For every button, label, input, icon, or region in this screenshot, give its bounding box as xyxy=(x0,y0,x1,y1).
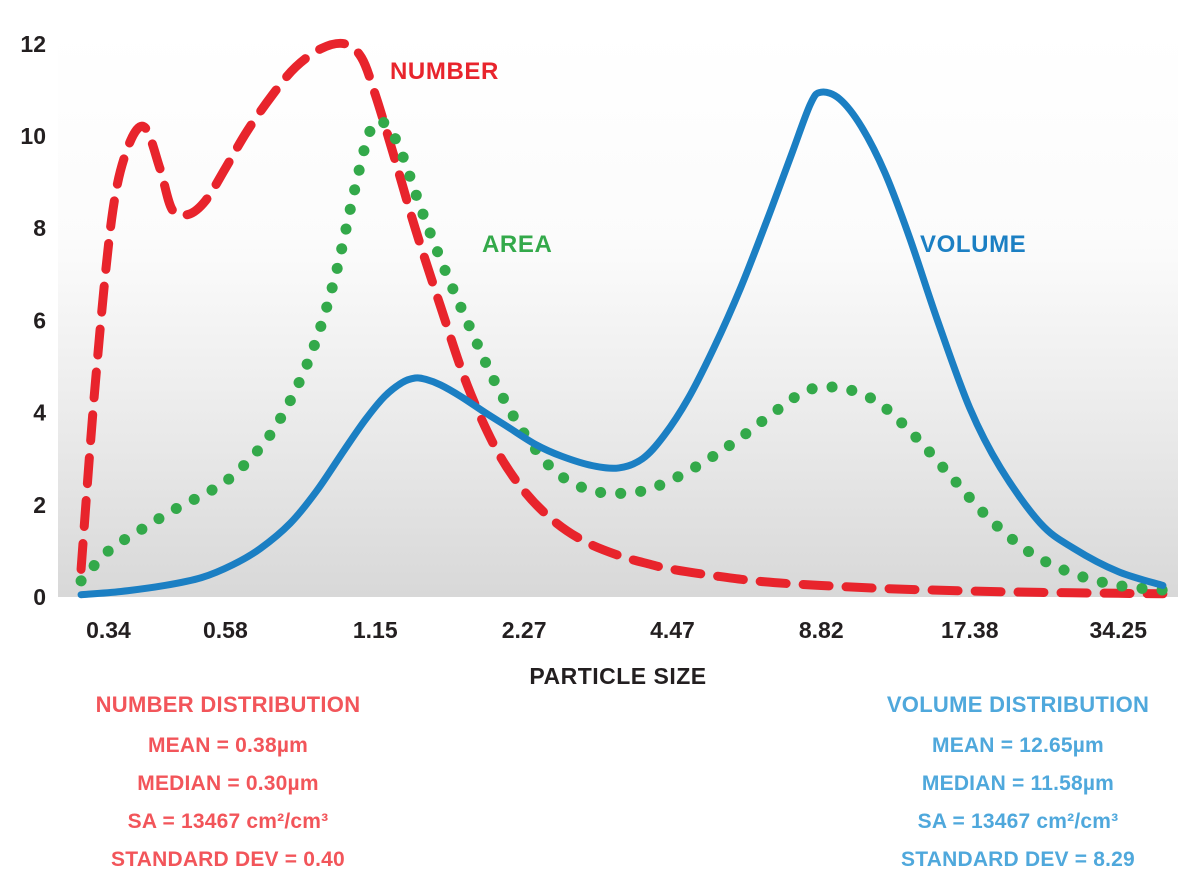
x-axis-title: PARTICLE SIZE xyxy=(529,663,706,689)
stats-line: SA = 13467 cm²/cm³ xyxy=(128,810,329,833)
x-tick-label: 17.38 xyxy=(941,617,999,643)
plot-background xyxy=(58,30,1178,597)
stats-line: MEAN = 12.65µm xyxy=(932,734,1104,757)
y-tick-label: 6 xyxy=(33,307,46,333)
particle-size-distribution-chart: 024681012 0.340.581.152.274.478.8217.383… xyxy=(0,0,1200,882)
y-tick-label: 12 xyxy=(20,31,46,57)
stats-line: STANDARD DEV = 0.40 xyxy=(111,848,345,871)
series-label-number: NUMBER xyxy=(390,58,499,85)
series-label-volume: VOLUME xyxy=(920,231,1026,258)
x-tick-label: 0.34 xyxy=(86,617,131,643)
y-axis-tick-labels: 024681012 xyxy=(20,31,46,610)
volume-distribution-stats: VOLUME DISTRIBUTIONMEAN = 12.65µmMEDIAN … xyxy=(887,692,1149,871)
x-tick-label: 8.82 xyxy=(799,617,844,643)
stats-line: STANDARD DEV = 8.29 xyxy=(901,848,1135,871)
stats-heading: VOLUME DISTRIBUTION xyxy=(887,692,1149,717)
x-tick-label: 2.27 xyxy=(502,617,547,643)
chart-canvas: 024681012 0.340.581.152.274.478.8217.383… xyxy=(0,0,1200,882)
x-tick-label: 0.58 xyxy=(203,617,248,643)
series-label-area: AREA xyxy=(482,231,552,258)
x-tick-label: 4.47 xyxy=(650,617,695,643)
stats-line: MEDIAN = 11.58µm xyxy=(922,772,1114,795)
number-distribution-stats: NUMBER DISTRIBUTIONMEAN = 0.38µmMEDIAN =… xyxy=(96,692,361,871)
x-tick-label: 34.25 xyxy=(1089,617,1147,643)
y-tick-label: 10 xyxy=(20,123,46,149)
y-tick-label: 0 xyxy=(33,584,46,610)
y-tick-label: 2 xyxy=(33,492,46,518)
stats-heading: NUMBER DISTRIBUTION xyxy=(96,692,361,717)
stats-line: MEAN = 0.38µm xyxy=(148,734,308,757)
stats-line: SA = 13467 cm²/cm³ xyxy=(918,810,1119,833)
y-tick-label: 4 xyxy=(33,400,46,426)
x-axis-tick-labels: 0.340.581.152.274.478.8217.3834.25 xyxy=(86,617,1147,643)
y-tick-label: 8 xyxy=(33,215,46,241)
stats-line: MEDIAN = 0.30µm xyxy=(137,772,318,795)
x-tick-label: 1.15 xyxy=(353,617,398,643)
